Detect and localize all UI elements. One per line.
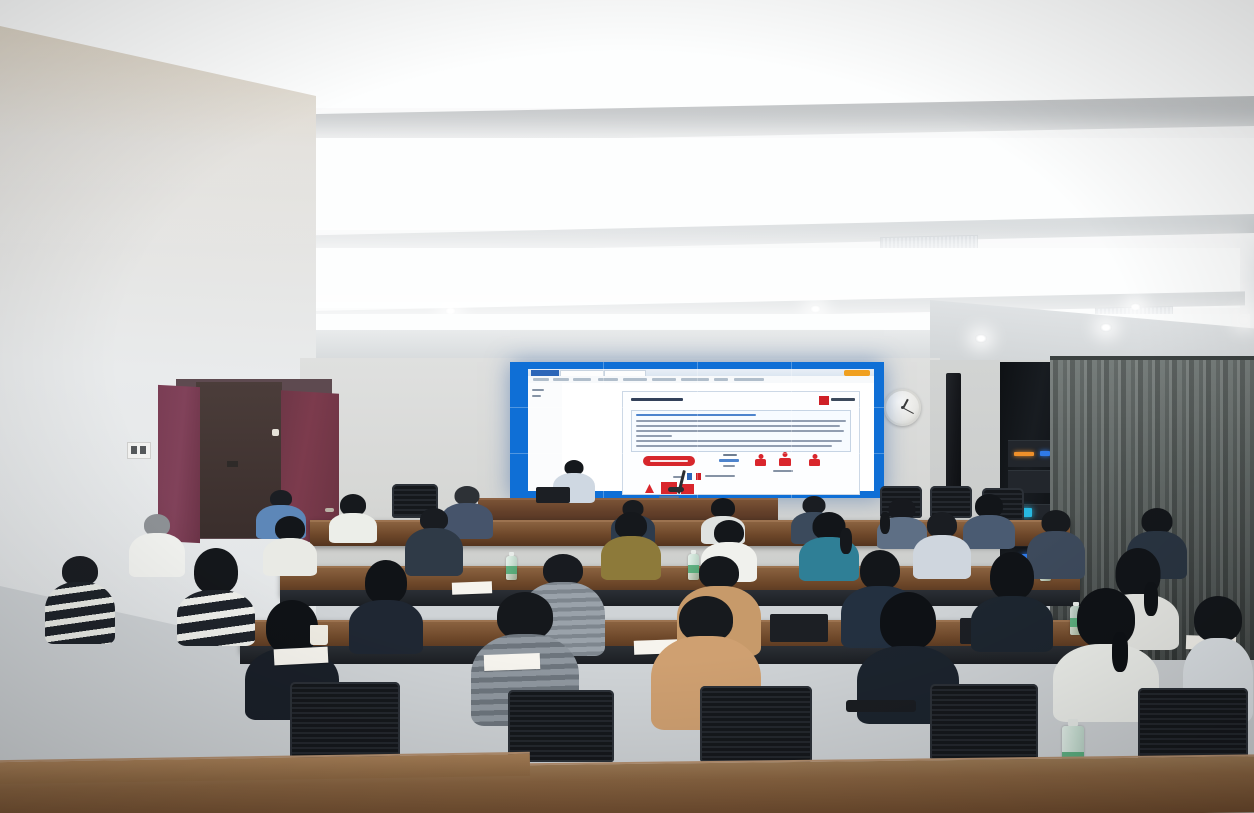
paper-document[interactable] — [274, 647, 329, 666]
chair[interactable] — [930, 684, 1038, 760]
water-bottle[interactable] — [506, 556, 517, 580]
downlight — [810, 305, 821, 313]
slide-small-icon — [687, 473, 692, 480]
rack-led-blue — [1040, 451, 1050, 456]
rack-led-amber — [1014, 452, 1034, 456]
conference-room-photo — [0, 0, 1254, 813]
presenter-laptop — [536, 487, 570, 503]
chair[interactable] — [290, 682, 400, 758]
paper-document[interactable] — [484, 653, 541, 671]
attendee — [262, 516, 318, 574]
slide-heading — [631, 398, 683, 401]
slide-red-badge — [643, 456, 695, 466]
slide-warning-icon — [645, 484, 654, 493]
light-switch-plate[interactable] — [127, 442, 151, 459]
chair[interactable] — [700, 686, 812, 762]
slide-person-icon — [779, 452, 791, 466]
slide-logo-text — [831, 398, 855, 401]
attendee — [912, 512, 972, 578]
slide-person-icon — [809, 454, 820, 466]
downlight — [1100, 323, 1112, 332]
chair[interactable] — [1138, 688, 1248, 760]
slide-logo-mark — [819, 396, 829, 405]
podium-mic-base — [668, 487, 684, 492]
paper-cup[interactable] — [310, 625, 328, 645]
attendee — [970, 552, 1054, 650]
chair-armrest — [846, 700, 916, 712]
document-page — [562, 383, 874, 491]
slide-person-icon — [755, 454, 766, 466]
laptop[interactable] — [770, 614, 828, 642]
clock-center — [901, 406, 904, 409]
wall-clock — [884, 389, 921, 426]
slide-text-block — [631, 410, 851, 452]
attendee — [44, 556, 116, 642]
attendee — [348, 560, 424, 652]
door-latch-icon — [272, 429, 279, 436]
attendee — [328, 494, 378, 538]
downlight — [1238, 316, 1250, 325]
door-push-plate — [227, 461, 238, 467]
attendee — [600, 512, 662, 578]
downlight — [1130, 303, 1141, 311]
downlight — [975, 334, 987, 343]
